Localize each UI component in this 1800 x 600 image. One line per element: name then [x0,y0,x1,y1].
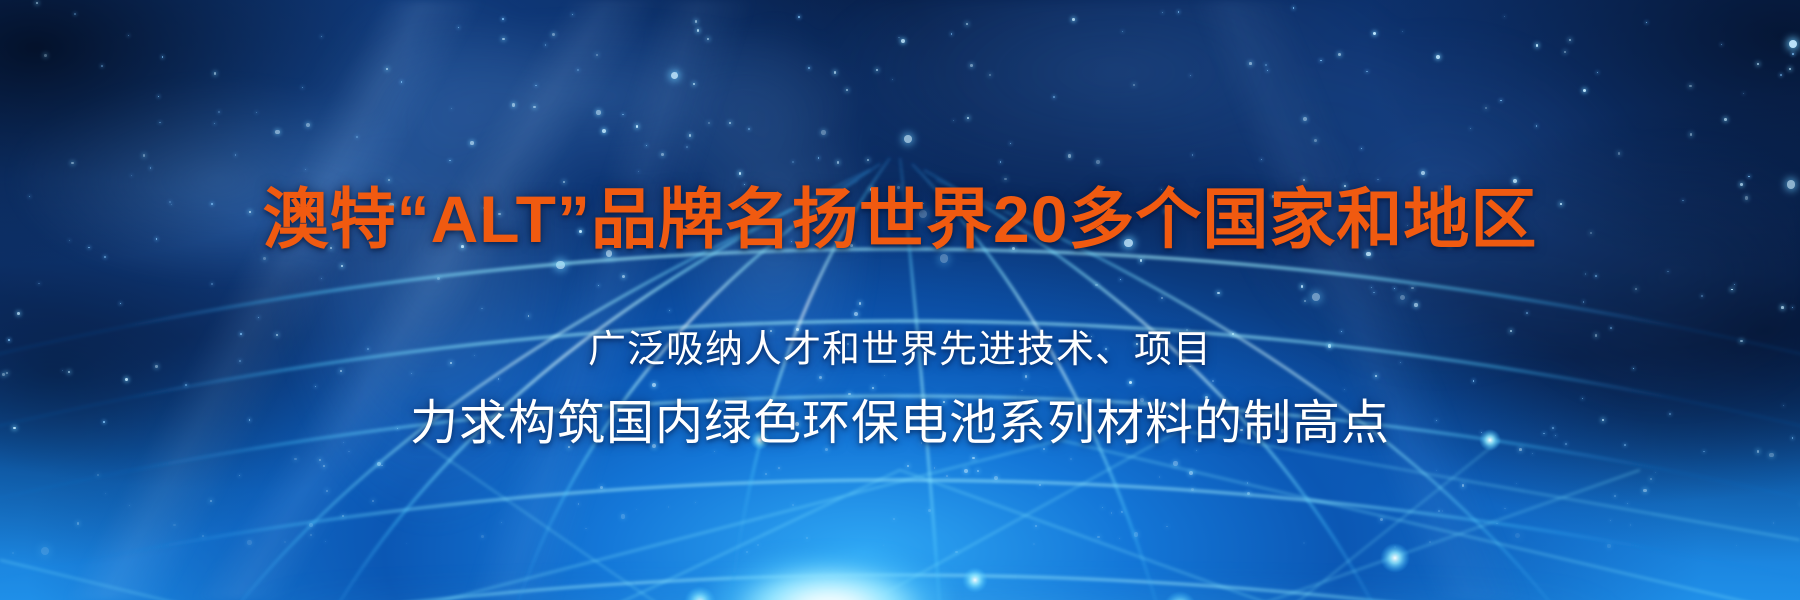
banner-text-block: 澳特“ALT”品牌名扬世界20多个国家和地区 广泛吸纳人才和世界先进技术、项目 … [0,0,1800,600]
banner-subline-primary: 广泛吸纳人才和世界先进技术、项目 [0,330,1800,372]
banner-subline-secondary: 力求构筑国内绿色环保电池系列材料的制高点 [0,398,1800,451]
banner-headline: 澳特“ALT”品牌名扬世界20多个国家和地区 [0,186,1800,252]
hero-banner: 澳特“ALT”品牌名扬世界20多个国家和地区 广泛吸纳人才和世界先进技术、项目 … [0,0,1800,600]
